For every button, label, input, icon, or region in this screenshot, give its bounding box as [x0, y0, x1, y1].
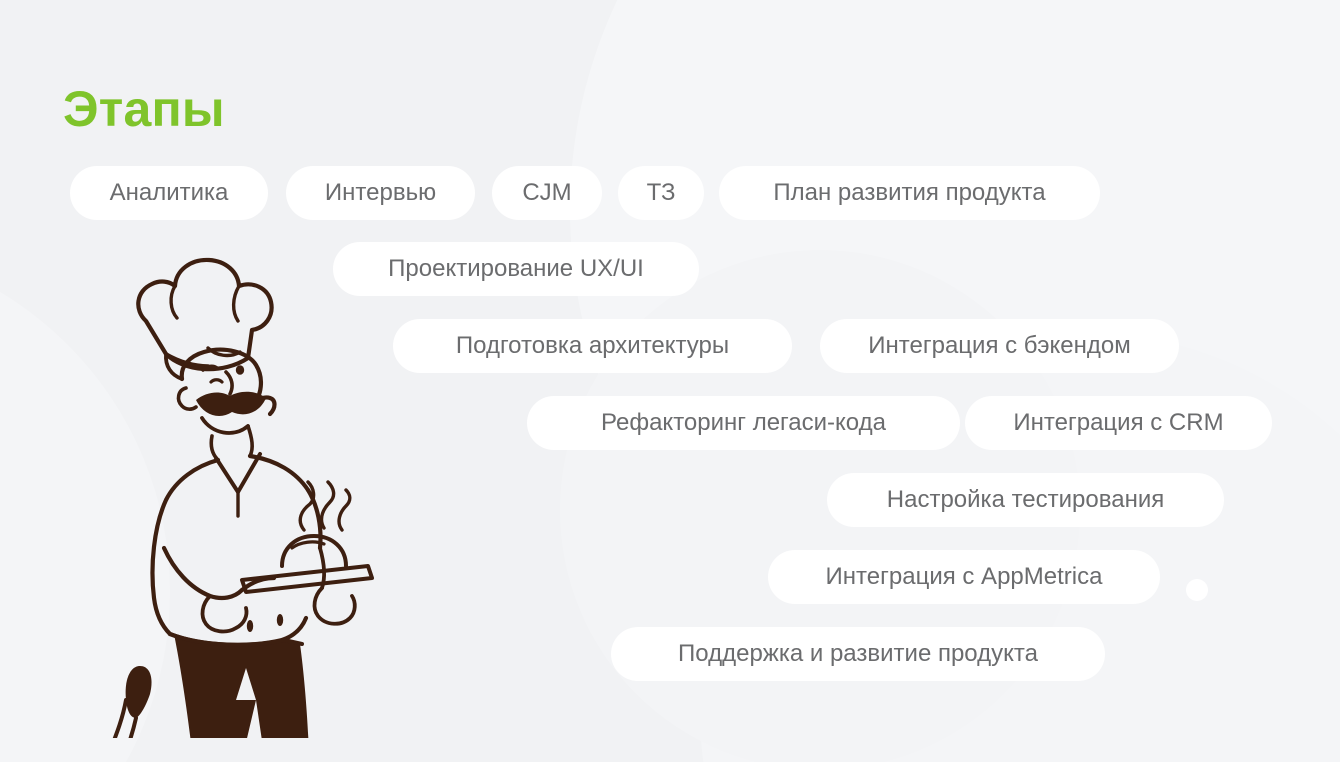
stage-chip[interactable]: Настройка тестирования — [827, 473, 1224, 527]
slide-canvas: Этапы — [0, 0, 1340, 762]
stage-chip[interactable]: Интервью — [286, 166, 475, 220]
stage-chip[interactable]: Интеграция с CRM — [965, 396, 1272, 450]
stage-chip[interactable]: Рефакторинг легаси-кода — [527, 396, 960, 450]
stage-chip[interactable]: Подготовка архитектуры — [393, 319, 792, 373]
stage-chip[interactable]: Проектирование UX/UI — [333, 242, 699, 296]
stage-chip[interactable]: Аналитика — [70, 166, 268, 220]
stage-chip[interactable]: CJM — [492, 166, 602, 220]
stage-chip-list: АналитикаИнтервьюCJMТЗПлан развития прод… — [0, 0, 1340, 762]
stage-chip[interactable]: План развития продукта — [719, 166, 1100, 220]
stage-chip[interactable]: Интеграция с AppMetrica — [768, 550, 1160, 604]
stage-chip[interactable]: Интеграция с бэкендом — [820, 319, 1179, 373]
stage-chip[interactable]: ТЗ — [618, 166, 704, 220]
stage-chip[interactable]: Поддержка и развитие продукта — [611, 627, 1105, 681]
